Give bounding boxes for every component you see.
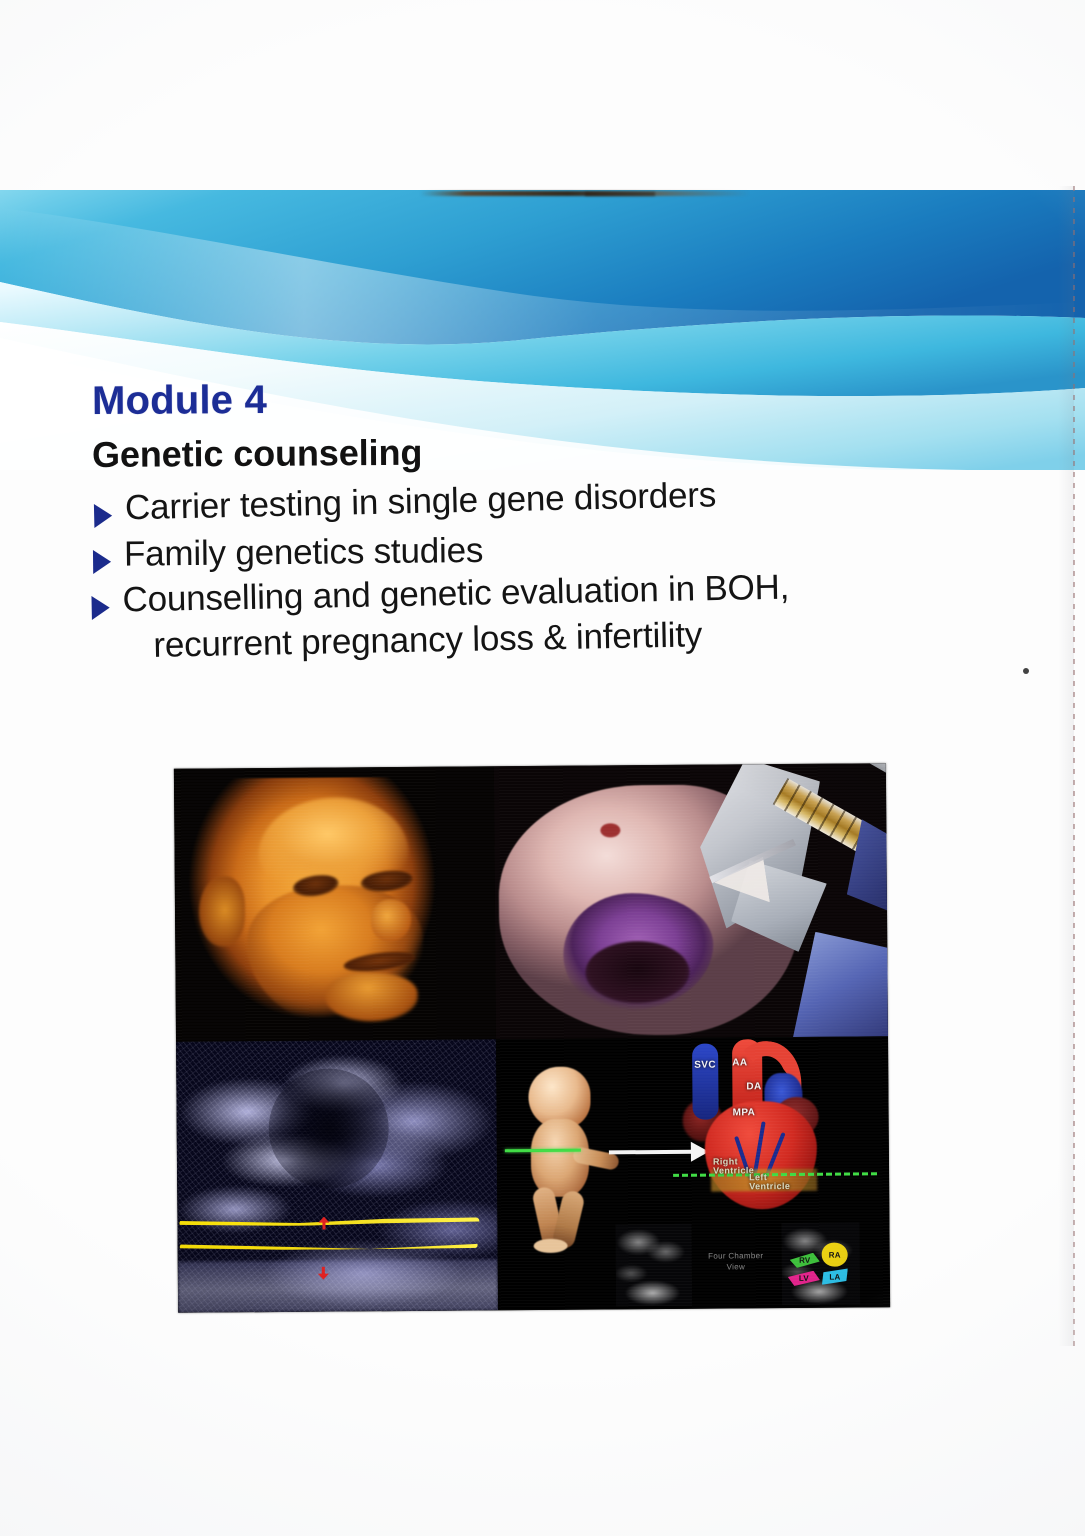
scan-plane-line [505, 1149, 581, 1153]
tissue-spot [600, 823, 620, 837]
list-item: Counselling and genetic evaluation in BO… [91, 562, 1033, 668]
list-item-label: Family genetics studies [124, 530, 484, 576]
list-item-text: Counselling and genetic evaluation in BO… [122, 567, 789, 619]
bullet-list: Carrier testing in single gene disorders… [92, 488, 1032, 668]
triangle-bullet-icon [93, 550, 111, 574]
heart-label-mpa: MPA [733, 1107, 756, 1118]
ultrasound-speckle [615, 1224, 692, 1307]
heart-label-aa: AA [732, 1057, 747, 1068]
tissue-haze [178, 1259, 498, 1313]
amniocentesis-procedure-image [494, 763, 888, 1039]
list-item-text: Family genetics studies [124, 531, 484, 574]
list-item: Carrier testing in single gene disorders [94, 467, 1033, 529]
list-item-text-wrap: recurrent pregnancy loss & infertility [153, 612, 790, 666]
ventricles [705, 1101, 818, 1210]
surgical-drape [791, 931, 888, 1039]
triangle-bullet-icon [94, 503, 113, 527]
fetus-foot [534, 1239, 568, 1253]
nuchal-translucency-ultrasound-image [176, 1039, 498, 1313]
face-ear [199, 876, 246, 946]
four-chamber-view-caption: Four Chamber View [694, 1251, 778, 1273]
heart-label-left-ventricle: Left Ventricle [749, 1173, 790, 1192]
list-item-text: Carrier testing in single gene disorders [125, 475, 717, 527]
syringe-plunger [860, 763, 888, 796]
page-title: Module 4 [92, 374, 1032, 422]
heart-label-svc: SVC [694, 1060, 716, 1071]
anechoic-region [268, 1068, 389, 1189]
scan-smudge-artifact-2 [585, 192, 655, 196]
page-edge-stitch-line [1073, 186, 1075, 1346]
chamber-label-ra: RA [822, 1243, 848, 1267]
list-item-label: Carrier testing in single gene disorders [125, 474, 717, 529]
slide-text-block: Module 4 Genetic counseling Carrier test… [92, 380, 1032, 672]
ink-speck-artifact [1023, 668, 1029, 674]
triangle-bullet-icon [91, 595, 109, 619]
heart-label-da: DA [746, 1081, 761, 1092]
fetal-medicine-image-collage: SVC AA DA MPA Right Ventricle Left Ventr… [174, 763, 890, 1313]
subject-heading: Genetic counseling [92, 429, 1032, 473]
scanned-slide-page: Module 4 Genetic counseling Carrier test… [0, 0, 1085, 1536]
list-item-label: Counselling and genetic evaluation in BO… [122, 566, 790, 667]
page-edge-shadow [1058, 186, 1074, 1346]
superior-vena-cava [692, 1044, 719, 1120]
four-chamber-ultrasound-plain [615, 1224, 692, 1307]
fetal-echocardiography-image: SVC AA DA MPA Right Ventricle Left Ventr… [496, 1036, 890, 1310]
fetal-face-ultrasound-image [174, 766, 496, 1042]
fetus-model [518, 1066, 601, 1249]
heart-label-right-ventricle: Right Ventricle [713, 1157, 754, 1176]
